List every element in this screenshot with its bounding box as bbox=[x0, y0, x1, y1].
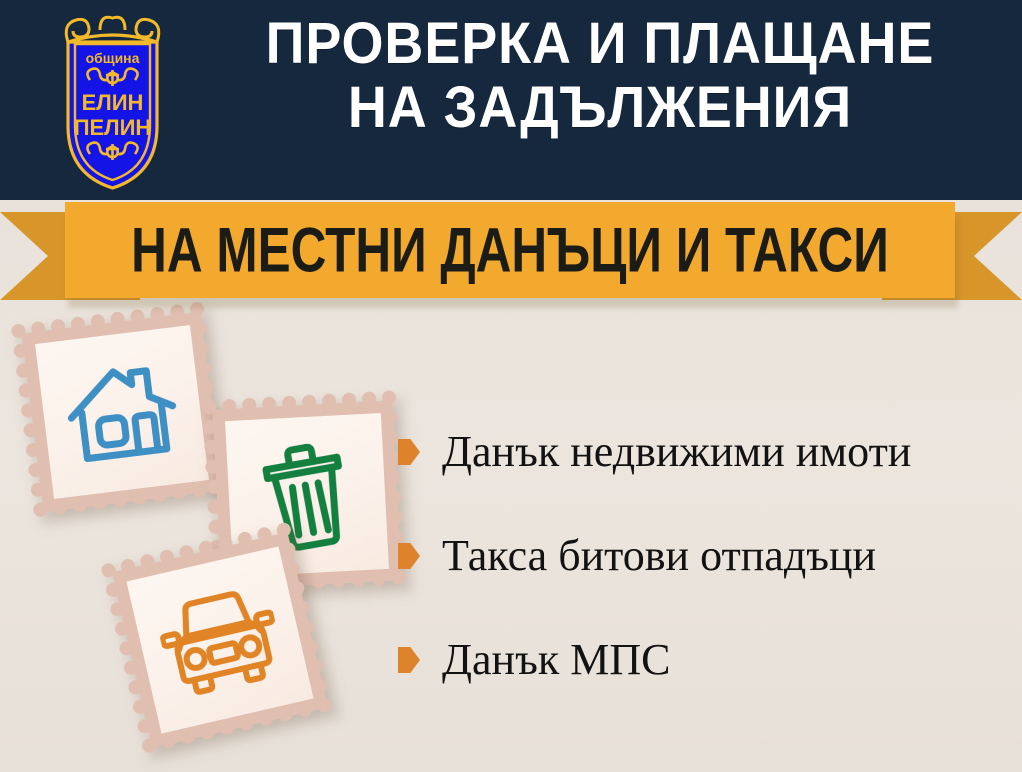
ribbon-plate: НА МЕСТНИ ДАНЪЦИ И ТАКСИ bbox=[65, 202, 955, 298]
car-front-icon bbox=[152, 578, 288, 702]
stamp-paper bbox=[35, 325, 209, 499]
logo-text-pelin: ПЕЛИН bbox=[74, 115, 152, 140]
services-list: Данък недвижими имоти Такса битови отпад… bbox=[398, 424, 1010, 736]
logo-text-obshtina: община bbox=[86, 50, 140, 66]
list-item[interactable]: Данък МПС bbox=[398, 632, 1010, 688]
logo-text-elin: ЕЛИН bbox=[82, 90, 144, 115]
list-item-label: Данък МПС bbox=[442, 635, 670, 685]
stamp-card-house bbox=[11, 301, 234, 524]
ribbon-banner: НА МЕСТНИ ДАНЪЦИ И ТАКСИ bbox=[0, 198, 1022, 308]
list-item[interactable]: Данък недвижими имоти bbox=[398, 424, 1010, 480]
arrow-bullet-icon bbox=[398, 543, 420, 569]
poster-canvas: ПРОВЕРКА И ПЛАЩАНЕ НА ЗАДЪЛЖЕНИЯ bbox=[0, 0, 1022, 772]
coat-of-arms-logo: община ЕЛИН ПЕЛИН bbox=[40, 8, 185, 193]
page-title: ПРОВЕРКА И ПЛАЩАНЕ НА ЗАДЪЛЖЕНИЯ bbox=[214, 12, 986, 140]
list-item-label: Данък недвижими имоти bbox=[442, 427, 911, 477]
list-item-label: Такса битови отпадъци bbox=[442, 531, 876, 581]
ribbon-label: НА МЕСТНИ ДАНЪЦИ И ТАКСИ bbox=[131, 218, 889, 282]
list-item[interactable]: Такса битови отпадъци bbox=[398, 528, 1010, 584]
arrow-bullet-icon bbox=[398, 439, 420, 465]
house-icon bbox=[60, 354, 184, 471]
arrow-bullet-icon bbox=[398, 647, 420, 673]
